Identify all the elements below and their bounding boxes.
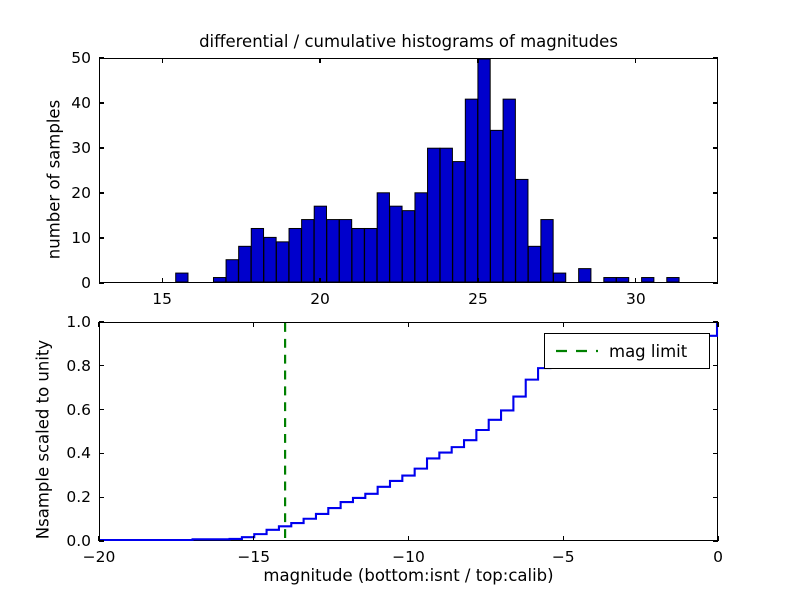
histogram-bar [579,269,591,282]
y-tick-mark [99,192,104,193]
histogram-bar [440,148,452,282]
histogram-bar [213,278,225,282]
y-tick-mark [99,147,104,148]
x-tick-mark [162,278,163,283]
x-tick-label: 15 [152,290,172,308]
y-tick-mark [99,57,104,58]
y-tick-label: 0.0 [35,532,91,550]
x-tick-mark [563,322,564,327]
x-tick-mark [408,536,409,541]
x-tick-mark [563,536,564,541]
x-tick-label: −5 [552,548,575,566]
x-tick-label: 30 [626,290,646,308]
chart-title: differential / cumulative histograms of … [99,32,718,51]
legend-box: mag limit [544,333,710,369]
y-tick-mark [713,102,718,103]
y-tick-mark [713,237,718,238]
y-tick-mark [99,365,104,366]
x-tick-mark [408,322,409,327]
histogram-bar [327,220,339,282]
histogram-bar [239,246,251,282]
histogram-bar [289,228,301,282]
x-tick-mark [477,278,478,283]
x-tick-mark [717,322,718,327]
y-tick-mark [99,409,104,410]
histogram-bar [415,193,427,282]
histogram-bar [528,246,540,282]
y-tick-mark [99,540,104,541]
figure-canvas: differential / cumulative histograms of … [0,0,800,600]
y-tick-label: 0.4 [35,444,91,462]
x-tick-label: 0 [713,548,723,566]
histogram-bar [604,278,616,282]
y-tick-mark [99,453,104,454]
x-tick-mark [253,536,254,541]
x-tick-mark [253,322,254,327]
y-tick-mark [713,282,718,283]
histogram-bar [176,273,188,282]
differential-histogram-axes [99,58,718,283]
bottom-panel-ylabel: Nsample scaled to unity [34,315,53,565]
y-tick-mark [713,409,718,410]
histogram-bar [491,130,503,282]
histogram-bar [365,228,377,282]
histogram-bar [478,59,490,282]
y-tick-label: 30 [35,139,91,157]
y-tick-mark [713,57,718,58]
x-tick-mark [319,58,320,63]
histogram-bar [390,206,402,282]
histogram-bar [302,220,314,282]
y-tick-label: 0.8 [35,357,91,375]
y-tick-label: 40 [35,94,91,112]
x-tick-label: −20 [83,548,116,566]
y-tick-mark [713,192,718,193]
x-tick-mark [162,58,163,63]
y-tick-label: 50 [35,49,91,67]
histogram-bar [377,193,389,282]
x-tick-label: 25 [468,290,488,308]
histogram-bar [465,99,477,282]
histogram-bar [516,179,528,282]
histogram-bar [264,237,276,282]
histogram-bar [453,162,465,282]
y-tick-mark [713,147,718,148]
legend-entry-mag-limit: mag limit [609,342,687,361]
histogram-bar [276,242,288,282]
x-tick-mark [319,278,320,283]
x-tick-label: −10 [392,548,425,566]
histogram-bar [616,278,628,282]
histogram-bar [251,228,263,282]
x-tick-label: −15 [237,548,270,566]
x-tick-mark [98,322,99,327]
y-tick-mark [713,453,718,454]
y-tick-mark [99,102,104,103]
y-tick-mark [713,540,718,541]
histogram-bar [314,206,326,282]
y-tick-mark [99,237,104,238]
y-tick-mark [713,321,718,322]
histogram-bar [642,278,654,282]
y-tick-label: 0.6 [35,401,91,419]
bottom-panel-xlabel: magnitude (bottom:isnt / top:calib) [99,566,718,585]
y-tick-mark [99,321,104,322]
histogram-bar [428,148,440,282]
x-tick-mark [635,58,636,63]
x-tick-mark [477,58,478,63]
histogram-bar [503,99,515,282]
y-tick-mark [99,282,104,283]
y-tick-mark [99,497,104,498]
y-tick-mark [713,365,718,366]
y-tick-label: 10 [35,229,91,247]
y-tick-label: 1.0 [35,313,91,331]
y-tick-label: 20 [35,184,91,202]
histogram-bar [541,220,553,282]
histogram-bar [667,278,679,282]
y-tick-mark [713,497,718,498]
y-tick-label: 0 [35,274,91,292]
y-tick-label: 0.2 [35,488,91,506]
histogram-bar [352,228,364,282]
histogram-bar [402,211,414,282]
x-tick-label: 20 [310,290,330,308]
histogram-bar [553,273,565,282]
differential-histogram-plot [100,59,717,282]
x-tick-mark [635,278,636,283]
histogram-bar [339,220,351,282]
histogram-bar [226,260,238,282]
mag-limit-line-icon [554,345,600,357]
